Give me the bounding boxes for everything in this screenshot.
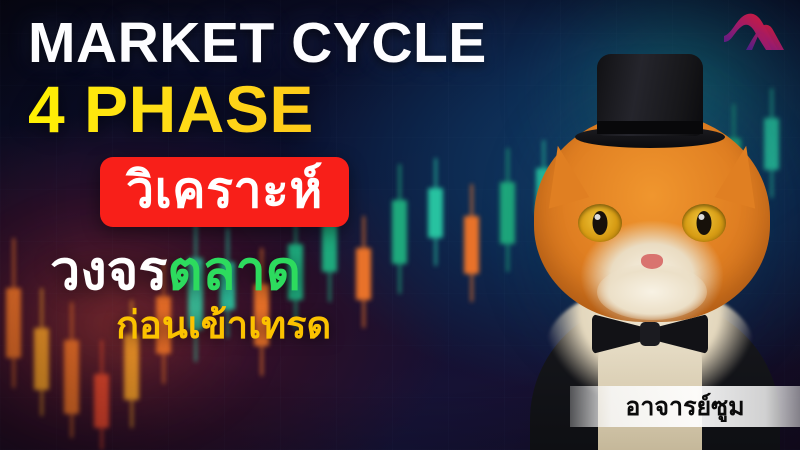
top-hat-band: [597, 121, 703, 134]
cat-ear-right: [715, 141, 771, 208]
analysis-badge-label: วิเคราะห์: [126, 162, 323, 218]
youtube-thumbnail: MARKET CYCLE 4 PHASE วิเคราะห์ วงจรตลาด …: [0, 0, 800, 450]
market-cycle-thai-line: วงจรตลาด: [50, 243, 558, 300]
market-cycle-thai-white: วงจร: [50, 241, 167, 301]
cat-eye-right: [682, 204, 726, 242]
tagline-thai: ก่อนเข้าเทรด: [116, 306, 558, 347]
cat-muzzle: [597, 264, 707, 320]
cat-pupil-right: [697, 211, 712, 235]
headline-market-cycle: MARKET CYCLE: [28, 16, 558, 72]
presenter-name-badge: อาจารย์ซูม: [570, 386, 800, 427]
market-cycle-thai-green: ตลาด: [167, 241, 301, 301]
cat-pupil-left: [593, 211, 608, 235]
cat-nose: [641, 254, 663, 269]
cat-eye-left: [578, 204, 622, 242]
bowtie-knot: [640, 322, 660, 346]
top-hat-icon: [575, 52, 725, 148]
analysis-badge: วิเคราะห์: [100, 157, 349, 227]
brand-logo-icon[interactable]: [722, 8, 786, 52]
headline-4-phase: 4 PHASE: [28, 76, 558, 143]
headline-block: MARKET CYCLE 4 PHASE วิเคราะห์ วงจรตลาด …: [28, 16, 558, 347]
presenter-name-label: อาจารย์ซูม: [625, 387, 744, 427]
